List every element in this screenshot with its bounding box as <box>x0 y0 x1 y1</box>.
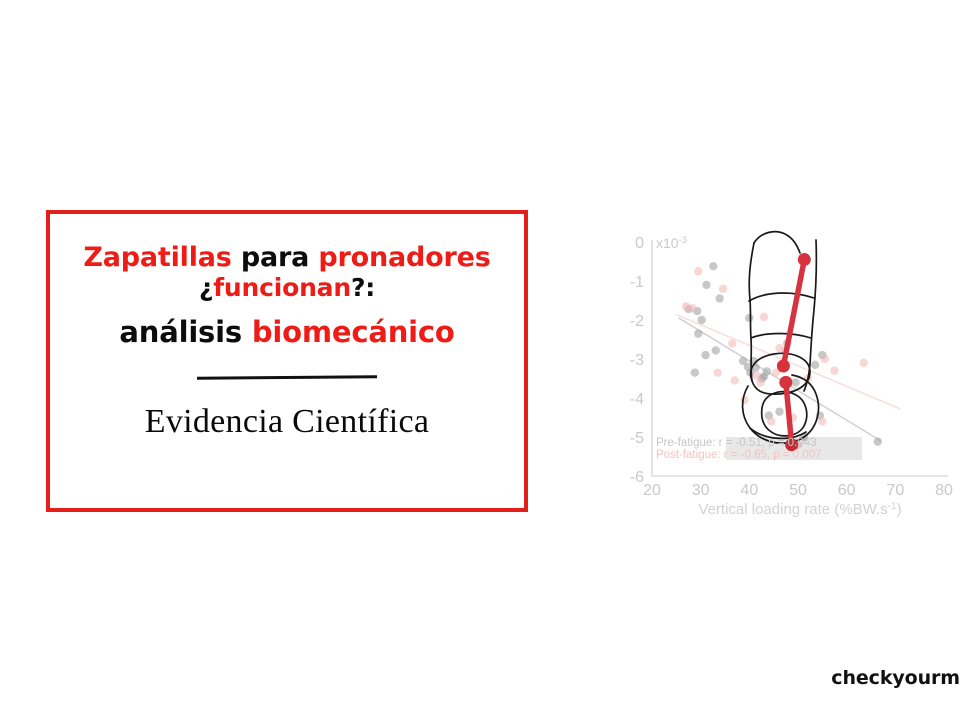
point-post-fatigue-15 <box>860 359 868 367</box>
point-pre-fatigue-1 <box>702 281 710 289</box>
headline-2-part-2: funcionan <box>213 273 351 302</box>
headline-1-part-3: pronadores <box>318 242 490 273</box>
point-pre-fatigue-10 <box>691 368 699 376</box>
trendline-pre-fatigue <box>679 318 881 441</box>
title-card: Zapatillas para pronadores ¿funcionan?: … <box>46 210 528 512</box>
legend-entry-post-fatigue: Post-fatigue: r = -0.65, p = 0.007 <box>656 449 822 461</box>
point-pre-fatigue-7 <box>694 329 702 337</box>
point-post-fatigue-14 <box>830 367 838 375</box>
y-tick-label--2: -2 <box>630 313 644 330</box>
x-tick-label-60: 60 <box>838 482 856 499</box>
point-pre-fatigue-9 <box>701 351 709 359</box>
scatter-chart-figure: x10-3 0-1-2-3-4-5-6 20304050607080 <box>604 218 956 523</box>
rearfoot-marker-2 <box>779 376 792 389</box>
point-post-fatigue-9 <box>731 376 739 384</box>
space-1 <box>232 242 241 273</box>
y-tick-label--4: -4 <box>630 391 644 408</box>
chart-svg: x10-3 0-1-2-3-4-5-6 20304050607080 <box>604 218 956 523</box>
headline-line-2: ¿funcionan?: <box>199 275 375 302</box>
leg-outline-top <box>754 232 800 253</box>
point-post-fatigue-13 <box>821 355 829 363</box>
point-pre-fatigue-8 <box>712 346 720 354</box>
headline-line-3: análisis biomecánico <box>119 317 454 348</box>
point-pre-fatigue-0 <box>709 262 717 270</box>
headline-3-part-1: análisis <box>119 315 242 349</box>
y-axis-multiplier: x10-3 <box>656 235 687 251</box>
point-post-fatigue-8 <box>714 368 722 376</box>
point-pre-fatigue-20 <box>811 361 819 369</box>
watermark-text: checkyourm <box>831 667 960 689</box>
x-axis-title: Vertical loading rate (%BW.s-1) <box>698 501 901 518</box>
chart-scatter-points <box>682 262 882 449</box>
shoe-mid-line <box>751 334 811 339</box>
point-pre-fatigue-24 <box>874 437 882 445</box>
y-tick-label--1: -1 <box>630 274 644 291</box>
space-2 <box>309 242 318 273</box>
x-axis-tick-labels: 20304050607080 <box>643 482 953 499</box>
y-axis-tick-labels: 0-1-2-3-4-5-6 <box>630 235 644 486</box>
point-post-fatigue-5 <box>728 339 736 347</box>
point-post-fatigue-4 <box>760 313 768 321</box>
point-post-fatigue-1 <box>719 285 727 293</box>
rearfoot-marker-0 <box>798 253 811 266</box>
x-tick-label-50: 50 <box>789 482 807 499</box>
x-tick-label-40: 40 <box>740 482 758 499</box>
point-post-fatigue-16 <box>767 417 775 425</box>
divider-rule <box>197 375 377 380</box>
x-tick-label-80: 80 <box>935 482 953 499</box>
legend-entry-pre-fatigue: Pre-fatigue: r = -0.51, p = 0.043 <box>656 437 816 449</box>
x-tick-label-20: 20 <box>643 482 661 499</box>
x-tick-label-30: 30 <box>692 482 710 499</box>
point-post-fatigue-18 <box>818 417 826 425</box>
point-post-fatigue-11 <box>756 378 764 386</box>
rearfoot-segment-0 <box>783 260 804 366</box>
point-post-fatigue-12 <box>740 396 748 404</box>
headline-1-part-2: para <box>241 242 309 273</box>
point-post-fatigue-0 <box>694 267 702 275</box>
subtitle-text: Evidencia Científica <box>145 403 430 441</box>
point-pre-fatigue-2 <box>715 294 723 302</box>
y-tick-label-0: 0 <box>635 235 644 252</box>
x-axis-title-main: Vertical loading rate (%BW.s <box>698 501 887 518</box>
space-3 <box>242 315 252 349</box>
x-tick-label-70: 70 <box>886 482 904 499</box>
headline-1-part-1: Zapatillas <box>83 242 231 273</box>
headline-3-part-2: biomecánico <box>252 315 455 349</box>
point-post-fatigue-3 <box>688 304 696 312</box>
y-tick-label--3: -3 <box>630 352 644 369</box>
chart-legend: Pre-fatigue: r = -0.51, p = 0.043 Post-f… <box>656 437 862 461</box>
point-pre-fatigue-5 <box>697 316 705 324</box>
y-tick-label--6: -6 <box>630 469 644 486</box>
headline-2-part-3: ?: <box>351 273 375 302</box>
point-pre-fatigue-6 <box>745 314 753 322</box>
headline-2-part-1: ¿ <box>199 273 213 302</box>
point-pre-fatigue-27 <box>791 378 799 386</box>
rearfoot-marker-1 <box>777 360 790 373</box>
y-tick-label--5: -5 <box>630 430 644 447</box>
x-axis-title-close: ) <box>897 501 902 518</box>
shoe-collar-line <box>749 293 814 301</box>
headline-line-1: Zapatillas para pronadores <box>83 244 490 273</box>
point-pre-fatigue-22 <box>775 407 783 415</box>
